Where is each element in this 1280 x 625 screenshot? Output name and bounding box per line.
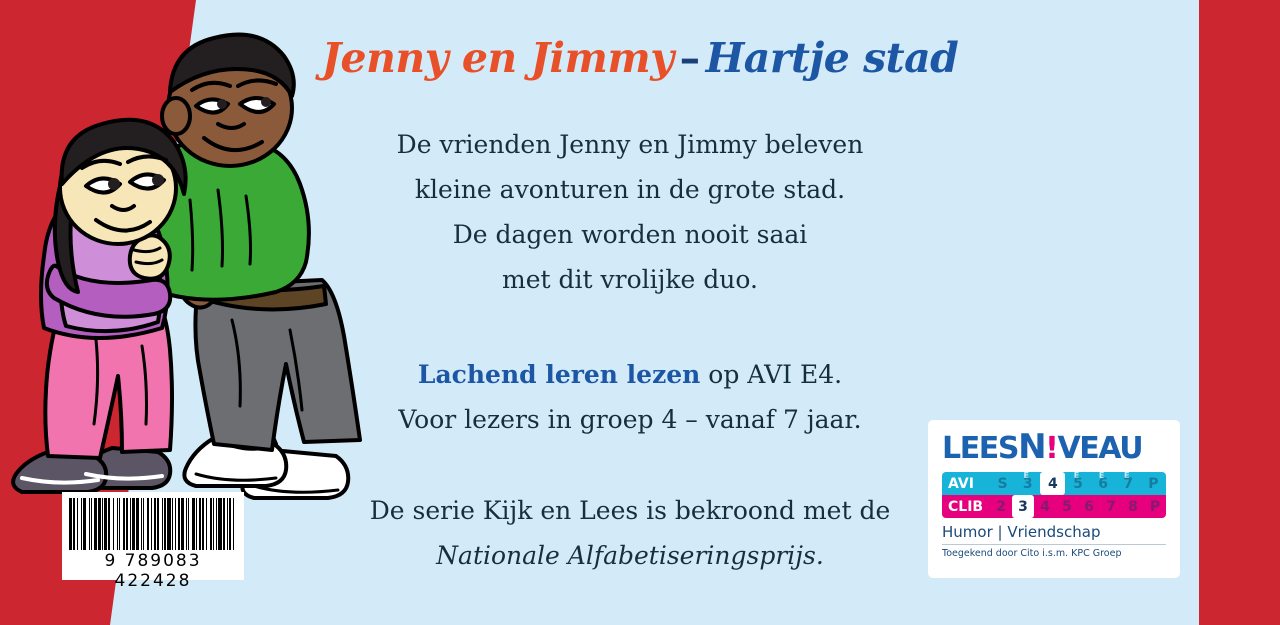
clib-cell-active[interactable]: 3 (1012, 495, 1034, 518)
logo-n: N (1018, 427, 1045, 467)
blurb-line: met dit vrolijke duo. (300, 257, 960, 302)
avi-cell[interactable]: M E7 (1116, 472, 1141, 495)
clib-label: CLIB (942, 495, 990, 518)
leesniveau-logo: LEESN!VEAU (942, 430, 1166, 466)
avi-cell[interactable]: M E6 (1091, 472, 1116, 495)
clib-cell[interactable]: 8 (1122, 495, 1144, 518)
avi-label: AVI (942, 472, 990, 495)
boy-ear (162, 98, 190, 134)
barcode: 9 789083 422428 (62, 492, 244, 580)
blurb-paragraph-2: Lachend leren lezen op AVI E4. Voor leze… (300, 352, 960, 442)
blurb-paragraph-3: De serie Kijk en Lees is bekroond met de… (300, 488, 960, 578)
logo-exclamation: ! (1045, 431, 1057, 466)
reading-level-line: Lachend leren lezen op AVI E4. (300, 352, 960, 397)
logo-lees: LEES (942, 431, 1018, 466)
award-line: De serie Kijk en Lees is bekroond met de (300, 488, 960, 533)
clib-cell[interactable]: 2 (990, 495, 1012, 518)
reading-level-highlight: Lachend leren lezen (418, 360, 700, 389)
avi-row: AVI S M E3 M E4 M E5 M E6 M E7 P (942, 472, 1166, 495)
title-book: Hartje stad (706, 34, 959, 82)
clib-row: CLIB 2 3 4 5 6 7 8 P (942, 495, 1166, 518)
avi-cell[interactable]: M E5 (1065, 472, 1090, 495)
barcode-bars (69, 498, 237, 550)
reading-level-scale: AVI S M E3 M E4 M E5 M E6 M E7 P CLIB 2 … (942, 472, 1166, 518)
divider (942, 544, 1166, 545)
reading-level-rest: op AVI E4. (700, 360, 842, 389)
credit-line: Toegekend door Cito i.s.m. KPC Groep (942, 548, 1166, 559)
book-back-cover: Jenny en Jimmy–Hartje stad De vrienden J… (0, 0, 1280, 625)
clib-cell[interactable]: 4 (1034, 495, 1056, 518)
clib-cell[interactable]: 5 (1056, 495, 1078, 518)
avi-cell[interactable]: M E3 (1015, 472, 1040, 495)
award-name: Nationale Alfabetiseringsprijs. (300, 533, 960, 578)
avi-cell[interactable]: P (1141, 472, 1166, 495)
avi-cell[interactable]: S (990, 472, 1015, 495)
barcode-digits: 9 789083 422428 (69, 551, 237, 591)
leesniveau-badge: LEESN!VEAU AVI S M E3 M E4 M E5 M E6 M E… (928, 420, 1180, 578)
blurb-paragraph-1: De vrienden Jenny en Jimmy beleven klein… (300, 122, 960, 302)
page-title: Jenny en Jimmy–Hartje stad (0, 34, 1280, 82)
audience-line: Voor lezers in groep 4 – vanaf 7 jaar. (300, 397, 960, 442)
blurb-line: De dagen worden nooit saai (300, 212, 960, 257)
avi-cell-active[interactable]: M E4 (1040, 472, 1065, 495)
blurb-line: kleine avonturen in de grote stad. (300, 167, 960, 212)
title-dash: – (674, 34, 706, 82)
clib-cell[interactable]: 6 (1078, 495, 1100, 518)
logo-veau: VEAU (1057, 431, 1142, 466)
clib-cell[interactable]: P (1144, 495, 1166, 518)
blurb-line: De vrienden Jenny en Jimmy beleven (300, 122, 960, 167)
clib-cell[interactable]: 7 (1100, 495, 1122, 518)
title-series: Jenny en Jimmy (322, 34, 674, 82)
genre-tags: Humor | Vriendschap (942, 523, 1166, 541)
